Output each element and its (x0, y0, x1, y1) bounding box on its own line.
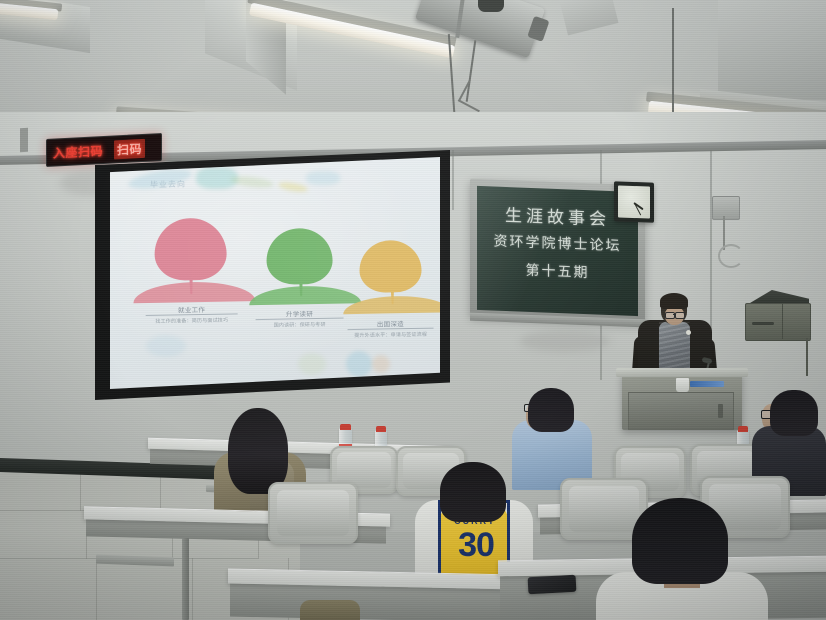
ceiling-camera (478, 0, 504, 12)
slide-decoration (306, 171, 340, 185)
paper-cup (676, 378, 689, 392)
slide-decoration (146, 335, 186, 357)
student-partial-body (300, 600, 360, 620)
wall-smudge (520, 330, 610, 352)
jersey-player-number: 30 (452, 528, 500, 562)
slide-title: 毕业去向 (150, 179, 186, 191)
bottle-cap (738, 426, 748, 432)
wall-seam (452, 150, 454, 210)
presenter-badge (686, 330, 691, 335)
slide-decoration (372, 355, 390, 373)
floor-tile (0, 470, 81, 511)
presenter-glasses (675, 312, 685, 319)
led-sign-secondary-text: 扫码 (114, 138, 145, 159)
presenter-hair (660, 293, 688, 309)
lectern-top (616, 368, 748, 377)
student-hair (528, 388, 574, 432)
student-hair (632, 498, 728, 584)
floor-tile (96, 558, 193, 620)
wall-junction-box (712, 196, 740, 220)
lectern-label-strip (690, 381, 724, 387)
student-hair (770, 390, 818, 436)
sign-bracket (20, 128, 28, 152)
speaker-wire (806, 338, 808, 376)
smartphone (528, 575, 577, 594)
student-hair (440, 462, 506, 522)
speaker-slot (752, 322, 774, 325)
speaker-divider (782, 303, 783, 339)
classroom-photo: 入座扫码 扫码 毕业去向 就业工作 找工作的准备：简历与面试技巧 (0, 0, 826, 620)
lectern-handle (718, 404, 723, 418)
classroom-chair (268, 482, 358, 544)
ceiling-beam (718, 0, 826, 100)
wall-clock (618, 185, 650, 218)
desk-leg (182, 538, 189, 620)
hanging-wire (672, 8, 674, 118)
bottle-cap (376, 426, 386, 432)
floor-tile (0, 510, 87, 559)
led-sign-primary-text: 入座扫码 (53, 142, 103, 162)
wall-seam (710, 150, 712, 350)
slide-decoration (298, 353, 326, 375)
projection-screen: 毕业去向 就业工作 找工作的准备：简历与面试技巧 升学读研 国内读研：保研与考研… (110, 157, 440, 389)
slide-decoration (346, 351, 372, 377)
bottle-cap (340, 424, 351, 430)
wall-hose-reel (718, 244, 744, 268)
glasses-bridge (673, 314, 676, 315)
floor-tile (0, 558, 97, 620)
